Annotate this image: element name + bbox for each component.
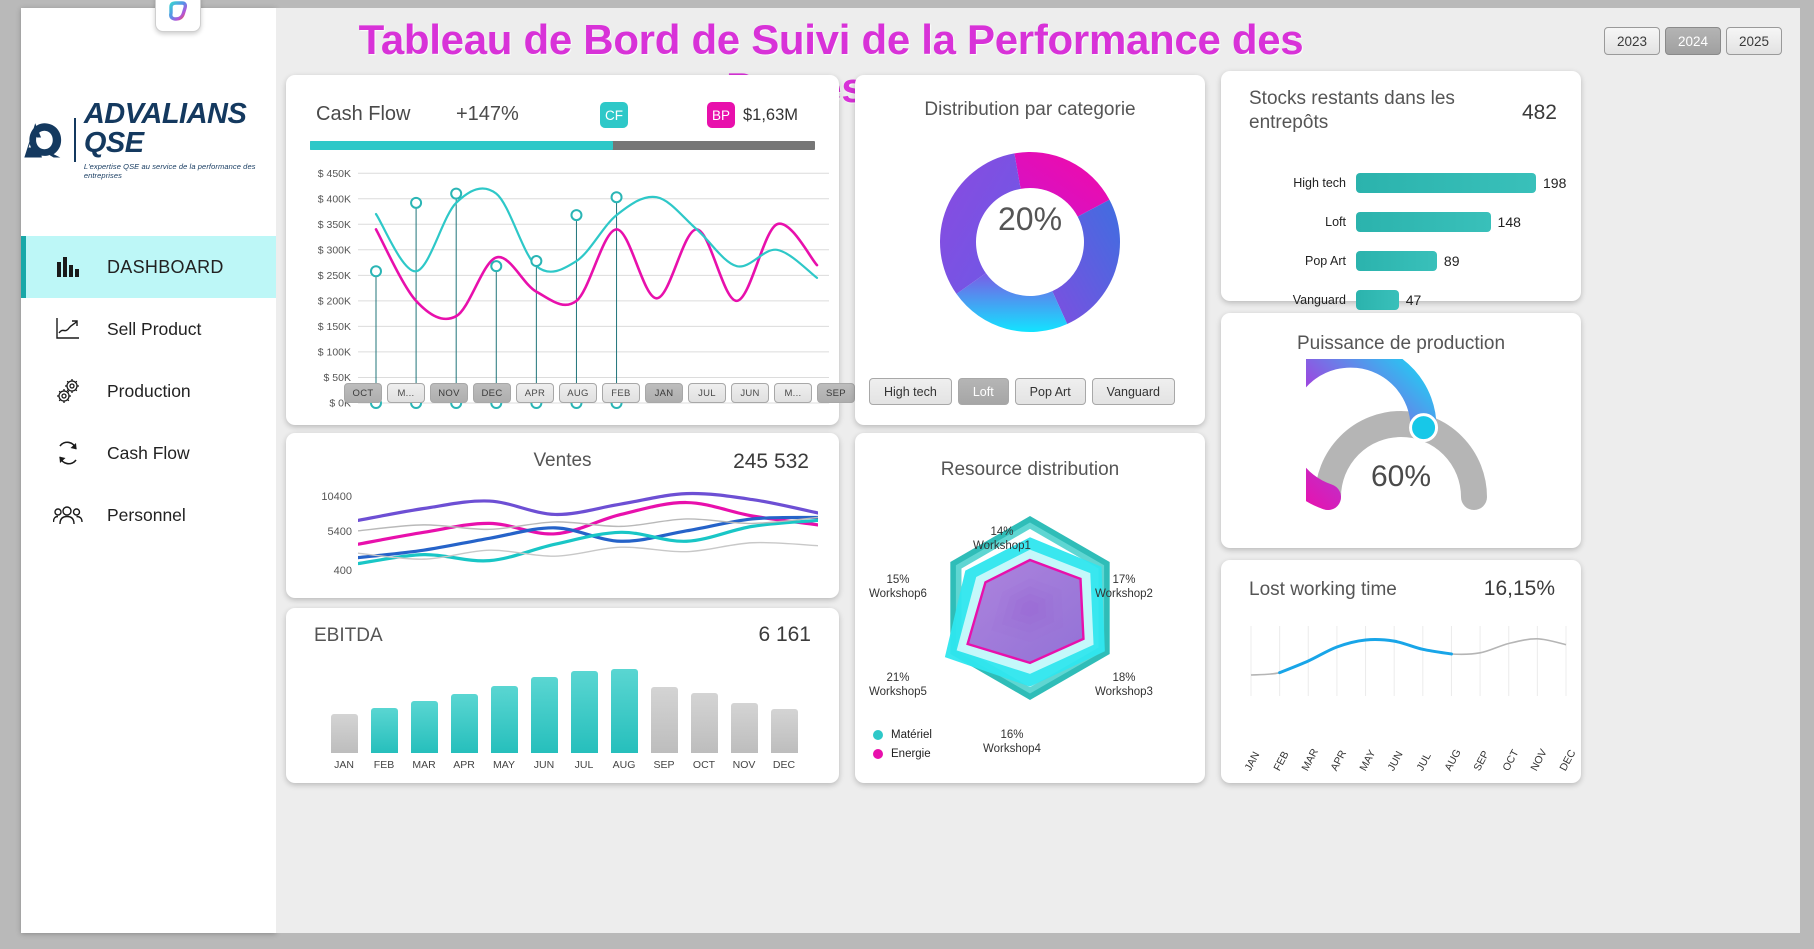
lost-xtick: JAN: [1242, 750, 1262, 773]
stock-label: High tech: [1221, 176, 1356, 190]
sidebar-item-cash-flow[interactable]: Cash Flow: [21, 422, 276, 484]
ventes-chart: [358, 473, 818, 583]
stock-bar: [1356, 290, 1399, 310]
lost-xtick: OCT: [1500, 748, 1521, 773]
stock-bar: [1356, 251, 1437, 271]
ebitda-bar: [571, 671, 598, 753]
ebitda-bar: [771, 709, 798, 753]
lost-xtick: MAR: [1300, 747, 1322, 773]
donut-chart: [855, 127, 1205, 357]
ebitda-bar: [371, 708, 398, 753]
cash-flow-percent: +147%: [456, 103, 519, 126]
sidebar-item-label: DASHBOARD: [107, 257, 224, 278]
ebitda-bar-column: JUL: [564, 663, 604, 771]
stock-label: Vanguard: [1221, 293, 1356, 307]
ebitda-title: EBITDA: [314, 625, 383, 647]
month-button-1[interactable]: M...: [387, 383, 425, 403]
stock-label: Pop Art: [1221, 254, 1356, 268]
ebitda-bar-column: FEB: [364, 663, 404, 771]
ebitda-bar-label: FEB: [374, 759, 394, 771]
stock-row: Pop Art89: [1221, 241, 1581, 280]
cash-flow-title: Cash Flow: [316, 103, 410, 126]
sidebar-item-personnel[interactable]: Personnel: [21, 484, 276, 546]
advalians-logo-icon: [21, 117, 66, 163]
logo-divider: [74, 118, 76, 162]
sidebar-item-label: Sell Product: [107, 319, 201, 340]
svg-text:$ 300K: $ 300K: [318, 244, 351, 256]
ebitda-card: EBITDA 6 161 JANFEBMARAPRMAYJUNJULAUGSEP…: [286, 608, 839, 783]
lost-value: 16,15%: [1484, 577, 1555, 601]
ebitda-bar: [611, 669, 638, 753]
category-button-0[interactable]: High tech: [869, 378, 952, 405]
month-button-9[interactable]: JUN: [731, 383, 769, 403]
ebitda-bar-label: MAR: [412, 759, 435, 771]
stocks-card: Stocks restants dans les entrepôts 482 H…: [1221, 71, 1581, 301]
month-button-2[interactable]: NOV: [430, 383, 468, 403]
ebitda-bar: [491, 686, 518, 753]
ebitda-bar-label: NOV: [733, 759, 756, 771]
cash-flow-progress-track: [310, 141, 815, 150]
lost-xtick: JUN: [1386, 749, 1406, 773]
ebitda-bar: [531, 677, 558, 753]
month-button-3[interactable]: DEC: [473, 383, 511, 403]
ebitda-bar-column: JUN: [524, 663, 564, 771]
stock-bar: [1356, 173, 1536, 193]
stock-label: Loft: [1221, 215, 1356, 229]
distribution-title: Distribution par categorie: [855, 99, 1205, 121]
svg-text:$ 350K: $ 350K: [318, 219, 351, 231]
svg-text:$ 250K: $ 250K: [318, 270, 351, 282]
lost-chart: [1221, 618, 1581, 708]
stock-value: 198: [1536, 175, 1566, 191]
ebitda-bar-column: JAN: [324, 663, 364, 771]
ebitda-bar-column: OCT: [684, 663, 724, 771]
stock-value: 47: [1399, 292, 1422, 308]
ebitda-bar-column: APR: [444, 663, 484, 771]
gears-icon: [53, 376, 83, 406]
legend-dot-energie: [873, 749, 883, 759]
lost-xtick: MAY: [1357, 748, 1378, 773]
category-button-3[interactable]: Vanguard: [1092, 378, 1175, 405]
sidebar-item-sell-product[interactable]: Sell Product: [21, 298, 276, 360]
distribution-card: Distribution par categorie: [855, 75, 1205, 425]
radar-label-workshop1: 14%Workshop1: [973, 525, 1031, 554]
dashboard-root: ADVALIANS QSE L'expertise QSE au service…: [0, 0, 1814, 949]
category-button-2[interactable]: Pop Art: [1015, 378, 1086, 405]
ebitda-bar: [691, 693, 718, 753]
month-button-10[interactable]: M...: [774, 383, 812, 403]
copilot-button[interactable]: [155, 0, 201, 32]
lost-xtick: SEP: [1471, 749, 1491, 773]
sidebar-item-label: Production: [107, 381, 191, 402]
year-button-2025[interactable]: 2025: [1726, 27, 1782, 55]
cash-flow-amount: $1,63M: [743, 106, 798, 125]
ebitda-bar-column: DEC: [764, 663, 804, 771]
ebitda-bar: [331, 714, 358, 753]
ventes-card: Ventes 245 532 10400 5400 400: [286, 433, 839, 598]
category-filter-group: High techLoftPop ArtVanguard: [869, 378, 1175, 405]
lost-xtick: FEB: [1271, 749, 1291, 773]
ebitda-bar-column: NOV: [724, 663, 764, 771]
ebitda-bar-label: DEC: [773, 759, 795, 771]
legend-label: Matériel: [891, 729, 932, 741]
sidebar-item-dashboard[interactable]: DASHBOARD: [21, 236, 276, 298]
radar-label-workshop3: 18%Workshop3: [1095, 671, 1153, 700]
stock-value: 148: [1491, 214, 1521, 230]
ventes-ytick-1: 5400: [302, 526, 352, 538]
legend-dot-materiel: [873, 730, 883, 740]
ebitda-bar: [411, 701, 438, 753]
radar-label-workshop5: 21%Workshop5: [869, 671, 927, 700]
ebitda-bar-column: MAY: [484, 663, 524, 771]
ebitda-bar-column: MAR: [404, 663, 444, 771]
brand-name: ADVALIANS QSE: [84, 100, 276, 158]
lost-xtick: NOV: [1529, 747, 1550, 773]
svg-text:$ 400K: $ 400K: [318, 193, 351, 205]
sidebar: ADVALIANS QSE L'expertise QSE au service…: [21, 8, 276, 933]
donut-center-label: 20%: [855, 201, 1205, 238]
ebitda-value: 6 161: [758, 623, 811, 647]
year-button-2023[interactable]: 2023: [1604, 27, 1660, 55]
ebitda-bar-column: AUG: [604, 663, 644, 771]
ebitda-bar: [451, 694, 478, 753]
month-button-7[interactable]: JAN: [645, 383, 683, 403]
refresh-cycle-icon: [53, 438, 83, 468]
stock-row: High tech198: [1221, 163, 1581, 202]
month-button-8[interactable]: JUL: [688, 383, 726, 403]
ebitda-bar: [731, 703, 758, 753]
brand-tagline: L'expertise QSE au service de la perform…: [84, 162, 276, 180]
legend-item-energie: Energie: [873, 748, 932, 760]
stocks-chart: High tech198Loft148Pop Art89Vanguard47: [1221, 163, 1581, 319]
radar-label-workshop6: 15%Workshop6: [869, 573, 927, 602]
lost-xtick: JUL: [1414, 751, 1433, 773]
stock-value: 89: [1437, 253, 1460, 269]
lost-working-time-card: Lost working time 16,15% JANFEBMARAPRMAY…: [1221, 560, 1581, 783]
legend-label: Energie: [891, 748, 931, 760]
ebitda-bar-column: SEP: [644, 663, 684, 771]
people-icon: [53, 500, 83, 530]
category-button-1[interactable]: Loft: [958, 378, 1009, 405]
dashboard-canvas: Tableau de Bord de Suivi de la Performan…: [276, 8, 1800, 933]
year-button-2024[interactable]: 2024: [1665, 27, 1721, 55]
svg-text:$ 100K: $ 100K: [318, 347, 351, 359]
ebitda-bar-label: OCT: [693, 759, 715, 771]
resource-distribution-card: Resource distribution 14%Workshop1 17%Wo…: [855, 433, 1205, 783]
stocks-total: 482: [1522, 101, 1557, 125]
cf-badge: CF: [600, 102, 628, 128]
copilot-icon: [165, 0, 191, 25]
line-chart-icon: [53, 314, 83, 344]
ebitda-bar-label: JUN: [534, 759, 554, 771]
bar-chart-icon: [53, 252, 83, 282]
gauge-title: Puissance de production: [1221, 333, 1581, 355]
radar-legend: Matériel Energie: [873, 729, 932, 767]
sidebar-item-label: Cash Flow: [107, 443, 190, 464]
cash-flow-card: Cash Flow +147% CF BP $1,63M $ 450K$ 400…: [286, 75, 839, 425]
radar-label-workshop2: 17%Workshop2: [1095, 573, 1153, 602]
legend-item-materiel: Matériel: [873, 729, 932, 741]
ventes-ytick-2: 400: [302, 565, 352, 577]
sidebar-item-label: Personnel: [107, 505, 186, 526]
gauge-chart: [1221, 359, 1581, 519]
svg-text:$ 200K: $ 200K: [318, 295, 351, 307]
gauge-value: 60%: [1221, 460, 1581, 494]
sidebar-item-production[interactable]: Production: [21, 360, 276, 422]
lost-xtick: AUG: [1443, 747, 1464, 773]
resource-title: Resource distribution: [855, 459, 1205, 481]
month-filter-group: OCTM...NOVDECAPRAUGFEBJANJULJUNM...SEP: [344, 383, 855, 403]
ebitda-bar-label: JUL: [575, 759, 594, 771]
ebitda-bar-label: SEP: [653, 759, 674, 771]
year-filter-group: 2023 2024 2025: [1604, 27, 1782, 55]
svg-text:$ 150K: $ 150K: [318, 321, 351, 333]
month-button-6[interactable]: FEB: [602, 383, 640, 403]
svg-text:$ 450K: $ 450K: [318, 168, 351, 180]
month-button-4[interactable]: APR: [516, 383, 554, 403]
ventes-value: 245 532: [733, 450, 809, 474]
lost-xaxis: JANFEBMARAPRMAYJUNJULAUGSEPOCTNOVDEC: [1261, 727, 1551, 775]
cash-flow-progress-fill: [310, 141, 613, 150]
month-button-11[interactable]: SEP: [817, 383, 855, 403]
ventes-ytick-0: 10400: [302, 491, 352, 503]
ebitda-chart: JANFEBMARAPRMAYJUNJULAUGSEPOCTNOVDEC: [324, 663, 804, 771]
ebitda-bar-label: APR: [453, 759, 475, 771]
radar-label-workshop4: 16%Workshop4: [983, 728, 1041, 757]
lost-title: Lost working time: [1249, 579, 1397, 601]
stocks-title: Stocks restants dans les entrepôts: [1249, 87, 1469, 136]
ebitda-bar-label: JAN: [334, 759, 354, 771]
lost-xtick: APR: [1328, 748, 1349, 773]
production-power-card: Puissance de production 60%: [1221, 313, 1581, 548]
bp-badge: BP: [707, 102, 735, 128]
ebitda-bar-label: MAY: [493, 759, 515, 771]
lost-xtick: DEC: [1557, 748, 1578, 773]
stock-bar: [1356, 212, 1491, 232]
ebitda-bar-label: AUG: [613, 759, 636, 771]
brand-logo: ADVALIANS QSE L'expertise QSE au service…: [21, 100, 276, 180]
ebitda-bar: [651, 687, 678, 753]
sidebar-nav: DASHBOARD Sell Product: [21, 236, 276, 546]
month-button-0[interactable]: OCT: [344, 383, 382, 403]
stock-row: Loft148: [1221, 202, 1581, 241]
month-button-5[interactable]: AUG: [559, 383, 597, 403]
